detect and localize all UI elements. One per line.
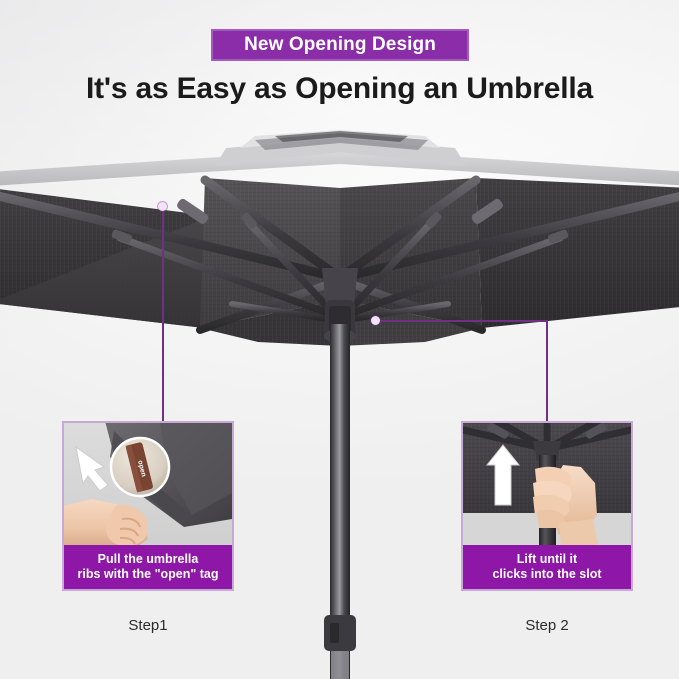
caption-line-2: ribs with the "open" tag xyxy=(77,567,218,582)
callout-photo-step-2 xyxy=(463,423,631,549)
callout-photo-step-1: open xyxy=(64,423,232,549)
umbrella-pole xyxy=(324,324,356,679)
leader-line-right-horizontal xyxy=(380,320,547,322)
step-label-1: Step1 xyxy=(62,617,234,634)
caption-line-1: Pull the umbrella xyxy=(98,552,199,567)
callout-caption-step-1: Pull the umbrella ribs with the "open" t… xyxy=(64,545,232,589)
leader-dot-right xyxy=(371,316,380,325)
callout-card-step-2: Lift until it clicks into the slot xyxy=(461,421,633,591)
magnifier-detail: open xyxy=(111,438,169,496)
pole-crank-housing xyxy=(324,615,356,651)
leader-dot-left xyxy=(158,202,167,211)
header: New Opening Design It's as Easy as Openi… xyxy=(0,0,679,128)
caption-line-2: clicks into the slot xyxy=(492,567,601,582)
caption-line-1: Lift until it xyxy=(517,552,577,567)
callout-caption-step-2: Lift until it clicks into the slot xyxy=(463,545,631,589)
step-label-2: Step 2 xyxy=(461,617,633,634)
infographic-canvas: New Opening Design It's as Easy as Openi… xyxy=(0,0,679,679)
callout-card-step-1: open Pull the umbrella rib xyxy=(62,421,234,591)
leader-line-right-vertical xyxy=(546,320,548,421)
leader-line-left-vertical xyxy=(162,211,164,421)
umbrella-product-photo xyxy=(0,128,679,679)
new-opening-design-badge: New Opening Design xyxy=(211,29,469,61)
page-title: It's as Easy as Opening an Umbrella xyxy=(0,72,679,106)
badge-label: New Opening Design xyxy=(244,34,436,56)
